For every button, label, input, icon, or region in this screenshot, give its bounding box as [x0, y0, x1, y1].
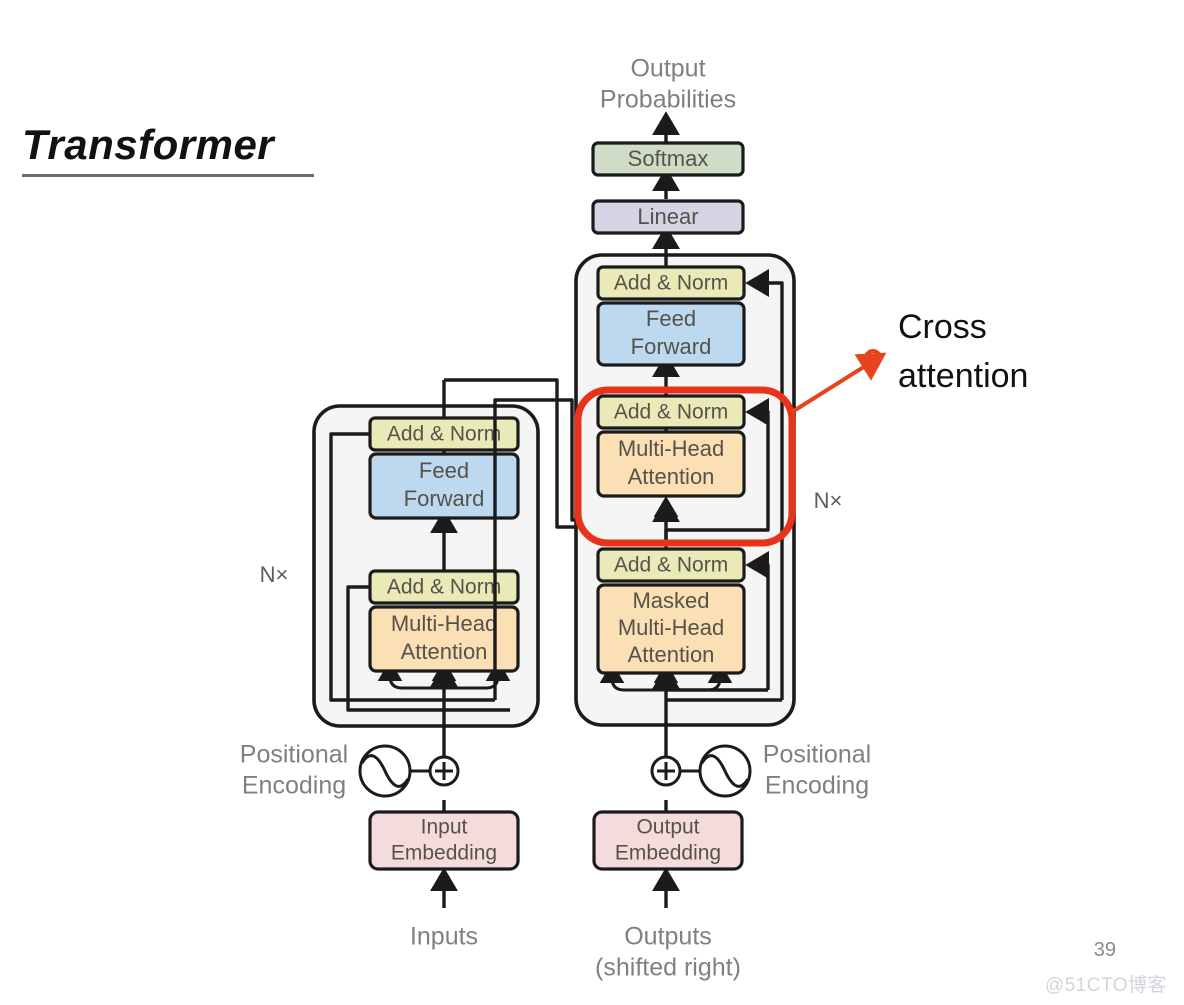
encoder-positional-label-1: Positional [240, 741, 348, 769]
page-number: 39 [1094, 939, 1116, 962]
encoder-add-norm-mha-label: Add & Norm [387, 576, 501, 599]
decoder-masked-attention-label-1: Masked [632, 588, 709, 613]
encoder-positional-encoding: Positional Encoding [240, 741, 458, 800]
decoder-feed-forward-label-1: Feed [646, 306, 696, 331]
encoder-mha-label-1: Multi-Head [391, 611, 497, 636]
output-probabilities-label-2: Probabilities [600, 86, 736, 114]
decoder-positional-label-1: Positional [763, 741, 871, 769]
decoder-masked-attention-label-3: Attention [628, 642, 715, 667]
decoder-cross-attention-label-2: Attention [628, 464, 715, 489]
decoder-positional-label-2: Encoding [765, 772, 869, 800]
encoder-add-norm-ff-label: Add & Norm [387, 423, 501, 446]
output-embedding: Output Embedding Outputs (shifted right) [594, 812, 742, 982]
decoder-masked-attention: Masked Multi-Head Attention [598, 585, 744, 673]
decoder-positional-encoding: Positional Encoding [652, 741, 871, 800]
encoder-positional-label-2: Encoding [242, 772, 346, 800]
decoder-add-norm-cross-label: Add & Norm [614, 401, 728, 424]
decoder-feed-forward: Feed Forward [598, 303, 744, 365]
decoder-masked-attention-label-2: Multi-Head [618, 615, 724, 640]
output-probabilities-label-1: Output [630, 55, 705, 83]
cross-attention-label-line-2: attention [898, 352, 1128, 401]
decoder-add-norm-masked-label: Add & Norm [614, 554, 728, 577]
watermark: @51CTO博客 [1045, 970, 1167, 997]
decoder-cross-attention-label-1: Multi-Head [618, 436, 724, 461]
transformer-architecture-diagram: Add & Norm Feed Forward Add & Norm Multi… [0, 0, 1184, 1005]
linear-block: Linear [593, 201, 743, 233]
cross-attention-annotation: Cross attention [898, 303, 1128, 402]
inputs-label: Inputs [410, 923, 478, 951]
cross-attention-label-line-1: Cross [898, 303, 1128, 352]
decoder-add-norm-ff: Add & Norm [598, 267, 744, 299]
output-embedding-label-1: Output [636, 816, 699, 839]
output-embedding-label-2: Embedding [615, 842, 721, 865]
decoder-feed-forward-label-2: Forward [631, 334, 712, 359]
input-embedding-label-1: Input [421, 816, 468, 839]
input-embedding-label-2: Embedding [391, 842, 497, 865]
decoder-add-norm-cross: Add & Norm [598, 396, 744, 428]
decoder-cross-attention: Multi-Head Attention [598, 432, 744, 496]
slide-canvas: Transformer [0, 0, 1184, 1005]
input-embedding: Input Embedding Inputs [370, 812, 518, 951]
decoder-add-norm-masked: Add & Norm [598, 549, 744, 581]
softmax-label: Softmax [628, 146, 709, 171]
encoder-repeat-label: N× [260, 562, 289, 587]
decoder-repeat-label: N× [814, 488, 843, 513]
outputs-label-2: (shifted right) [595, 954, 741, 982]
cross-attention-pointer-line [792, 358, 878, 412]
encoder-feed-forward-label-1: Feed [419, 458, 469, 483]
outputs-label-1: Outputs [624, 923, 712, 951]
encoder-mha-label-2: Attention [401, 639, 488, 664]
linear-label: Linear [637, 204, 698, 229]
softmax-block: Softmax [593, 143, 743, 175]
encoder-feed-forward-label-2: Forward [404, 486, 485, 511]
decoder-add-norm-ff-label: Add & Norm [614, 272, 728, 295]
